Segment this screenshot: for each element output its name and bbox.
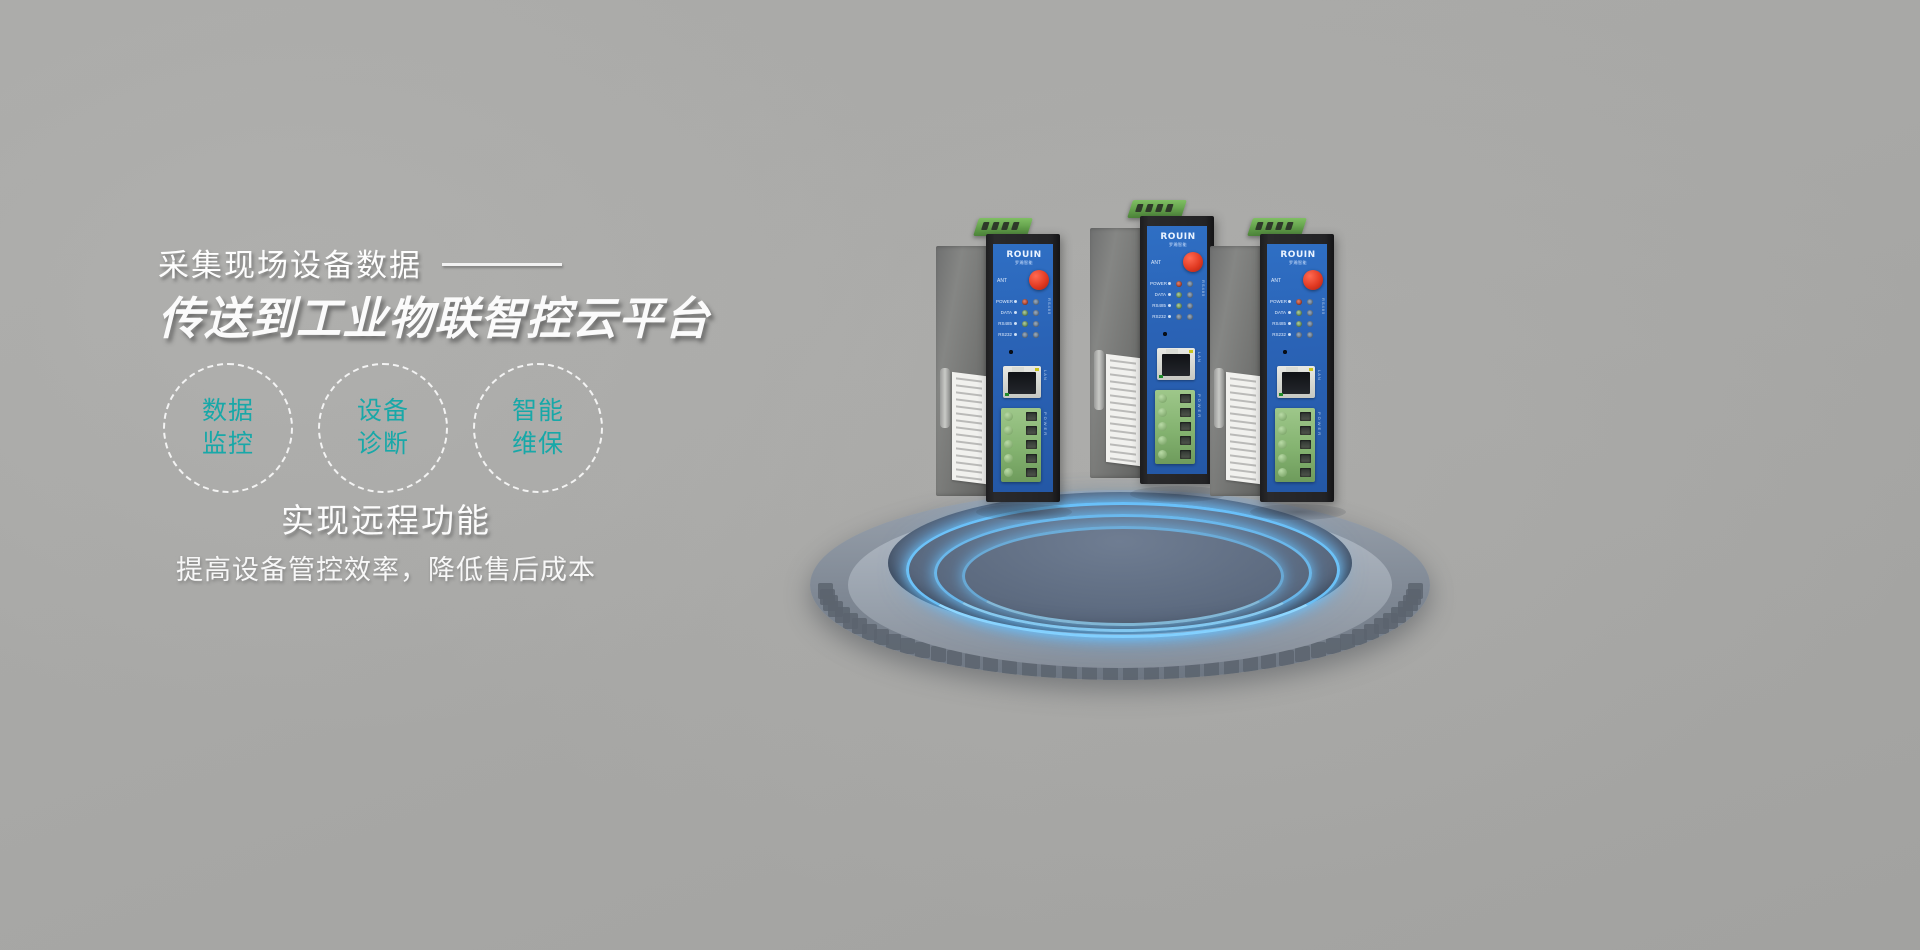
pedestal-tooth	[1311, 642, 1326, 658]
led-lamp-secondary-icon	[1033, 310, 1039, 316]
antenna-connector-icon	[1183, 252, 1203, 272]
panel-side-marking: RS485	[1321, 298, 1326, 315]
brand-logo-cn: 罗瀚智能	[1275, 260, 1321, 266]
led-row-data: DATA	[996, 307, 1052, 318]
brand-logo: ROUIN	[1155, 232, 1201, 242]
led-indicator-block: POWERDATARS485RS232	[1270, 296, 1326, 340]
din-rail-clip	[1214, 368, 1224, 428]
ethernet-port-icon	[1277, 366, 1315, 398]
feature-label-line1: 智能	[512, 395, 564, 428]
panel-side-marking: RS485	[1201, 280, 1206, 297]
eyebrow-row: 采集现场设备数据	[158, 240, 562, 285]
led-row-power: POWER	[1270, 296, 1326, 307]
tagline: 提高设备管控效率，降低售后成本	[0, 548, 760, 587]
led-lamp-secondary-icon	[1307, 299, 1313, 305]
feature-label-line2: 监控	[202, 428, 254, 461]
device-front-bezel: ROUIN 罗瀚智能 ANT POWERDATARS485RS232 RS485…	[1140, 216, 1214, 484]
led-row-power: POWER	[1150, 278, 1206, 289]
ethernet-port-icon	[1003, 366, 1041, 398]
feature-label-line1: 设备	[357, 395, 409, 428]
led-bullet-icon	[1014, 333, 1017, 336]
led-label: POWER	[1150, 281, 1166, 286]
feature-label-line2: 诊断	[357, 428, 409, 461]
led-bullet-icon	[1288, 322, 1291, 325]
brand-logo-cn: 罗瀚智能	[1155, 242, 1201, 248]
pedestal-tooth	[915, 642, 930, 658]
reset-button-icon[interactable]	[1009, 350, 1013, 354]
din-rail-clip	[940, 368, 950, 428]
lan-port-label: LAN	[1043, 370, 1048, 381]
led-lamp-secondary-icon	[1307, 321, 1313, 327]
product-scene: ROUIN 罗瀚智能 ANT POWERDATARS485RS232 RS485…	[790, 150, 1490, 710]
panel-side-marking: RS485	[1047, 298, 1052, 315]
led-lamp-icon	[1022, 332, 1028, 338]
led-lamp-icon	[1296, 332, 1302, 338]
led-bullet-icon	[1014, 300, 1017, 303]
pedestal-tooth	[1408, 583, 1423, 599]
terminal-block-label: POWER	[1043, 412, 1048, 437]
led-lamp-secondary-icon	[1307, 332, 1313, 338]
feature-circle-smart-maintenance[interactable]: 智能 维保	[473, 363, 603, 493]
device-front-bezel: ROUIN 罗瀚智能 ANT POWERDATARS485RS232 RS485…	[1260, 234, 1334, 502]
led-lamp-secondary-icon	[1187, 281, 1193, 287]
green-terminal-block	[1275, 408, 1315, 482]
led-lamp-secondary-icon	[1033, 299, 1039, 305]
iot-gateway-device-right: ROUIN 罗瀚智能 ANT POWERDATARS485RS232 RS485…	[1210, 228, 1336, 506]
led-row-power: POWER	[996, 296, 1052, 307]
subheading: 实现远程功能	[0, 494, 760, 542]
lan-port-label: LAN	[1197, 352, 1202, 363]
led-row-data: DATA	[1150, 289, 1206, 300]
antenna-row: ANT	[1271, 270, 1325, 292]
led-lamp-icon	[1022, 299, 1028, 305]
led-lamp-icon	[1176, 292, 1182, 298]
led-lamp-icon	[1176, 303, 1182, 309]
led-row-data: DATA	[1270, 307, 1326, 318]
led-row-rs232: RS232	[996, 329, 1052, 340]
led-row-rs232: RS232	[1150, 311, 1206, 322]
led-label: DATA	[996, 310, 1012, 315]
page-title: 传送到工业物联智控云平台	[158, 282, 710, 347]
reset-button-icon[interactable]	[1283, 350, 1287, 354]
ethernet-port-icon	[1157, 348, 1195, 380]
pedestal-tooth	[1261, 653, 1276, 669]
hero-banner: 采集现场设备数据 传送到工业物联智控云平台 数据 监控 设备 诊断 智能 维保 …	[0, 0, 1920, 950]
device-front-panel: ROUIN 罗瀚智能 ANT POWERDATARS485RS232 RS485…	[993, 244, 1053, 492]
feature-label-line2: 维保	[512, 428, 564, 461]
led-bullet-icon	[1168, 315, 1171, 318]
led-label: POWER	[996, 299, 1012, 304]
antenna-label: ANT	[1271, 278, 1281, 284]
pedestal-tooth	[1279, 650, 1294, 666]
pedestal-glow-arc-3	[962, 526, 1284, 626]
led-bullet-icon	[1014, 311, 1017, 314]
device-side-housing	[1090, 228, 1142, 478]
led-bullet-icon	[1168, 304, 1171, 307]
led-lamp-secondary-icon	[1187, 303, 1193, 309]
led-label: RS232	[1270, 332, 1286, 337]
hero-copy-block: 采集现场设备数据 传送到工业物联智控云平台 数据 监控 设备 诊断 智能 维保 …	[0, 0, 760, 950]
pedestal-tooth	[900, 638, 915, 654]
device-spec-label	[952, 372, 986, 484]
pedestal-tooth	[931, 646, 946, 662]
led-lamp-icon	[1022, 310, 1028, 316]
feature-circle-group: 数据 监控 设备 诊断 智能 维保	[163, 363, 603, 493]
led-bullet-icon	[1288, 300, 1291, 303]
device-side-housing	[936, 246, 988, 496]
device-spec-label	[1226, 372, 1260, 484]
device-spec-label	[1106, 354, 1140, 466]
feature-label-line1: 数据	[202, 395, 254, 428]
led-lamp-secondary-icon	[1307, 310, 1313, 316]
led-indicator-block: POWERDATARS485RS232	[1150, 278, 1206, 322]
led-lamp-icon	[1176, 281, 1182, 287]
led-label: DATA	[1150, 292, 1166, 297]
feature-circle-data-monitoring[interactable]: 数据 监控	[163, 363, 293, 493]
led-label: RS485	[1150, 303, 1166, 308]
iot-gateway-device-middle: ROUIN 罗瀚智能 ANT POWERDATARS485RS232 RS485…	[1090, 210, 1216, 488]
reset-button-icon[interactable]	[1163, 332, 1167, 336]
green-terminal-block	[1155, 390, 1195, 464]
lan-port-label: LAN	[1317, 370, 1322, 381]
antenna-label: ANT	[997, 278, 1007, 284]
pedestal-tooth	[1326, 638, 1341, 654]
led-label: RS485	[996, 321, 1012, 326]
led-label: RS485	[1270, 321, 1286, 326]
tagline-text: 提高设备管控效率，降低售后成本	[176, 548, 596, 587]
green-terminal-block	[1001, 408, 1041, 482]
terminal-block-label: POWER	[1317, 412, 1322, 437]
pedestal-tooth	[886, 634, 901, 650]
antenna-connector-icon	[1303, 270, 1323, 290]
led-lamp-icon	[1176, 314, 1182, 320]
led-lamp-icon	[1296, 299, 1302, 305]
led-label: POWER	[1270, 299, 1286, 304]
led-bullet-icon	[1288, 333, 1291, 336]
led-lamp-secondary-icon	[1187, 292, 1193, 298]
led-row-rs485: RS485	[1150, 300, 1206, 311]
antenna-connector-icon	[1029, 270, 1049, 290]
led-label: DATA	[1270, 310, 1286, 315]
led-bullet-icon	[1014, 322, 1017, 325]
device-side-housing	[1210, 246, 1262, 496]
device-front-bezel: ROUIN 罗瀚智能 ANT POWERDATARS485RS232 RS485…	[986, 234, 1060, 502]
brand-logo: ROUIN	[1001, 250, 1047, 260]
led-bullet-icon	[1168, 293, 1171, 296]
antenna-row: ANT	[997, 270, 1051, 292]
brand-logo: ROUIN	[1275, 250, 1321, 260]
led-row-rs232: RS232	[1270, 329, 1326, 340]
led-indicator-block: POWERDATARS485RS232	[996, 296, 1052, 340]
terminal-block-label: POWER	[1197, 394, 1202, 419]
brand-logo-cn: 罗瀚智能	[1001, 260, 1047, 266]
pedestal-tooth	[1295, 646, 1310, 662]
device-drop-shadow	[976, 504, 1072, 520]
led-lamp-icon	[1022, 321, 1028, 327]
iot-gateway-device-left: ROUIN 罗瀚智能 ANT POWERDATARS485RS232 RS485…	[936, 228, 1062, 506]
led-label: RS232	[996, 332, 1012, 337]
subheading-text: 实现远程功能	[281, 494, 491, 542]
led-row-rs485: RS485	[1270, 318, 1326, 329]
antenna-row: ANT	[1151, 252, 1205, 274]
led-bullet-icon	[1168, 282, 1171, 285]
device-front-panel: ROUIN 罗瀚智能 ANT POWERDATARS485RS232 RS485…	[1147, 226, 1207, 474]
led-label: RS232	[1150, 314, 1166, 319]
din-rail-clip	[1094, 350, 1104, 410]
led-lamp-icon	[1296, 310, 1302, 316]
led-bullet-icon	[1288, 311, 1291, 314]
eyebrow-text: 采集现场设备数据	[158, 240, 422, 285]
device-drop-shadow	[1250, 504, 1346, 520]
device-front-panel: ROUIN 罗瀚智能 ANT POWERDATARS485RS232 RS485…	[1267, 244, 1327, 492]
led-lamp-icon	[1296, 321, 1302, 327]
feature-circle-device-diagnosis[interactable]: 设备 诊断	[318, 363, 448, 493]
led-row-rs485: RS485	[996, 318, 1052, 329]
antenna-label: ANT	[1151, 260, 1161, 266]
led-lamp-secondary-icon	[1187, 314, 1193, 320]
led-lamp-secondary-icon	[1033, 321, 1039, 327]
eyebrow-rule-divider	[442, 263, 562, 266]
led-lamp-secondary-icon	[1033, 332, 1039, 338]
